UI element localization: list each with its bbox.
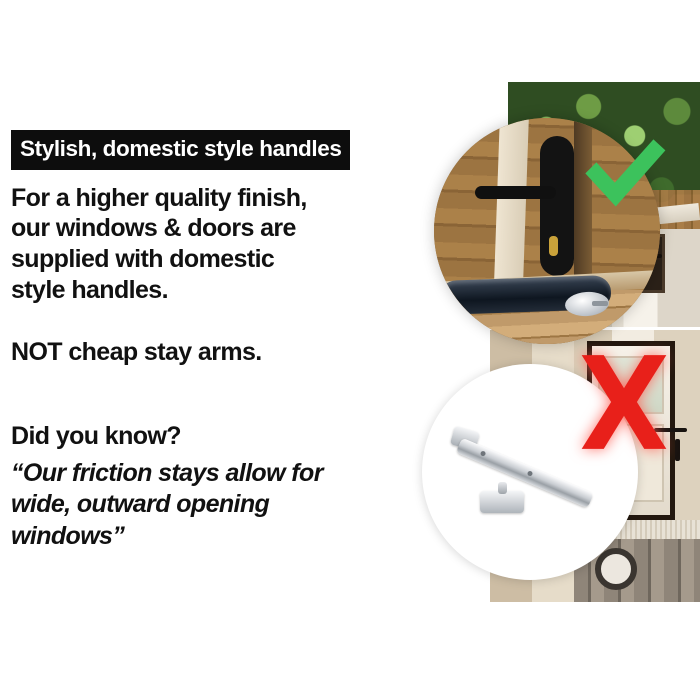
headline-banner: Stylish, domestic style handles <box>11 130 350 170</box>
promo-graphic: Stylish, domestic style handles For a hi… <box>0 0 700 700</box>
stay-arm-bar <box>456 438 593 508</box>
body-line-3: supplied with domestic <box>11 244 441 275</box>
body-line-1: For a higher quality finish, <box>11 183 441 214</box>
handle-backplate <box>540 136 574 276</box>
ring-port-detail <box>595 548 637 590</box>
spacer-2 <box>11 367 441 421</box>
body-paragraph: For a higher quality finish, our windows… <box>11 183 441 306</box>
body-line-4: style handles. <box>11 275 441 306</box>
quote-line-1: “Our friction stays allow for <box>11 458 441 489</box>
spacer-1 <box>11 306 441 337</box>
door-lever-handle <box>475 186 556 199</box>
quote-block: “Our friction stays allow for wide, outw… <box>11 458 441 552</box>
did-you-know-prompt: Did you know? <box>11 421 441 452</box>
handle-key-detail <box>592 301 608 306</box>
red-cross-icon <box>578 348 670 456</box>
quote-line-2: wide, outward opening <box>11 489 441 520</box>
green-check-icon <box>578 132 670 224</box>
imagery-zone <box>430 0 700 700</box>
emphasis-line: NOT cheap stay arms. <box>11 337 441 368</box>
light-board-detail <box>494 118 529 281</box>
cabin-door-lock <box>675 439 680 461</box>
body-line-2: our windows & doors are <box>11 213 441 244</box>
keyhole-detail <box>549 236 558 256</box>
quote-line-3: windows” <box>11 521 441 552</box>
text-column: Stylish, domestic style handles For a hi… <box>11 130 441 552</box>
stay-arm-pin-bracket <box>480 491 524 513</box>
